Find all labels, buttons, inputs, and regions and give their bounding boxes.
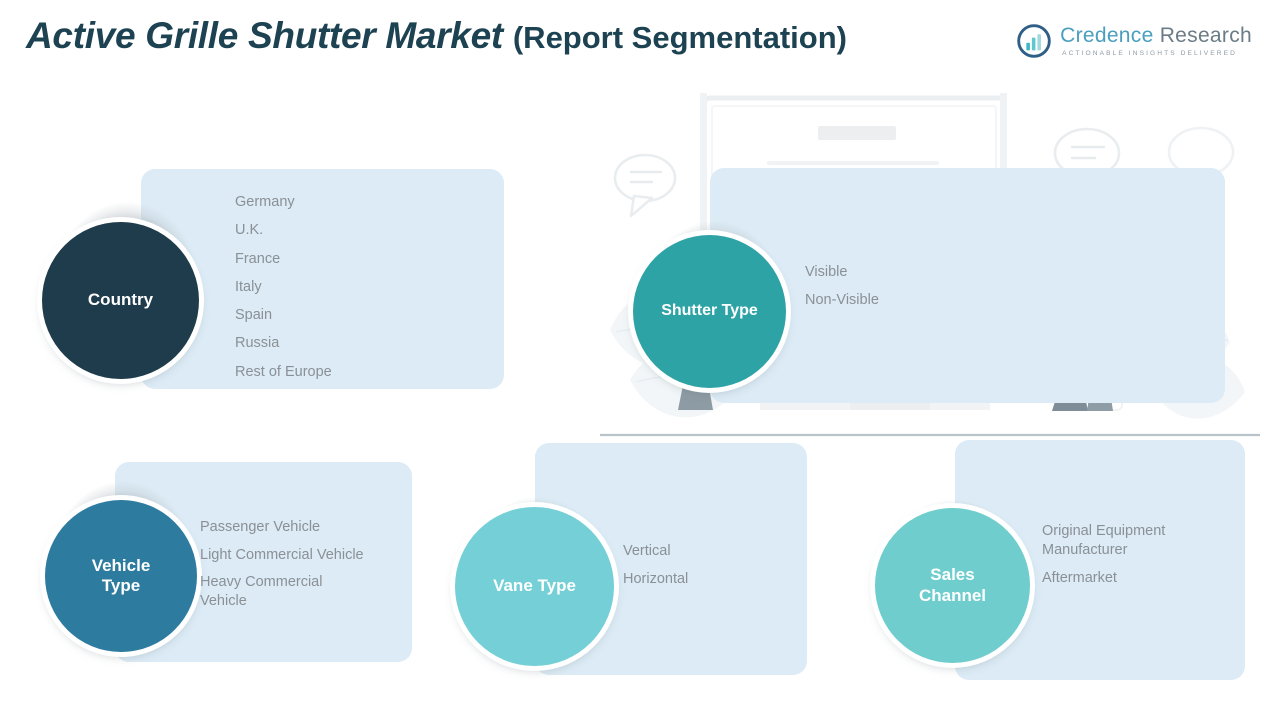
list-item: Horizontal bbox=[623, 565, 803, 593]
page-title-sub: (Report Segmentation) bbox=[513, 20, 847, 55]
page-title: Active Grille Shutter Market (Report Seg… bbox=[26, 15, 847, 57]
list-item: France bbox=[235, 245, 495, 273]
segment-vane-type: Vane Type Vertical Horizontal bbox=[420, 440, 820, 680]
segment-label-circle-country[interactable]: Country bbox=[42, 222, 199, 379]
segment-item-list-vane-type: Vertical Horizontal bbox=[623, 537, 803, 594]
list-item: Passenger Vehicle bbox=[200, 518, 425, 537]
segment-label-circle-sales-channel[interactable]: Sales Channel bbox=[875, 508, 1030, 663]
segment-item-list-sales-channel: Original Equipment Manufacturer Aftermar… bbox=[1042, 522, 1247, 597]
segment-sales-channel: Sales Channel Original Equipment Manufac… bbox=[830, 430, 1255, 680]
list-item: Spain bbox=[235, 301, 495, 329]
list-item: Italy bbox=[235, 273, 495, 301]
logo-text: Credence Research Actionable Insights De… bbox=[1060, 25, 1252, 56]
brand-logo[interactable]: Credence Research Actionable Insights De… bbox=[1017, 24, 1252, 58]
segment-item-list-country: Germany U.K. France Italy Spain Russia R… bbox=[235, 188, 495, 386]
logo-tagline: Actionable Insights Delivered bbox=[1062, 50, 1252, 57]
header: Active Grille Shutter Market (Report Seg… bbox=[0, 0, 1280, 90]
list-item: Light Commercial Vehicle bbox=[200, 546, 425, 565]
speech-bubble-right-lines bbox=[1072, 147, 1104, 158]
list-item: U.K. bbox=[235, 216, 495, 244]
list-item: Visible bbox=[805, 258, 1105, 286]
infographic-page: Active Grille Shutter Market (Report Seg… bbox=[0, 0, 1280, 720]
list-item: Non-Visible bbox=[805, 286, 1105, 314]
segment-label-circle-vehicle-type[interactable]: Vehicle Type bbox=[45, 500, 197, 652]
segment-vehicle-type: Vehicle Type Passenger Vehicle Light Com… bbox=[0, 440, 430, 680]
logo-word-secondary: Research bbox=[1154, 24, 1252, 47]
list-item: Original Equipment Manufacturer bbox=[1042, 522, 1247, 559]
list-item: Russia bbox=[235, 329, 495, 357]
bar-chart-circle-icon bbox=[1017, 24, 1051, 58]
logo-word-primary: Credence bbox=[1060, 24, 1153, 47]
list-item: Germany bbox=[235, 188, 495, 216]
whiteboard-title-bar bbox=[818, 126, 896, 140]
segment-label-circle-vane-type[interactable]: Vane Type bbox=[455, 507, 614, 666]
segment-item-list-shutter-type: Visible Non-Visible bbox=[805, 258, 1105, 315]
segment-shutter-type: Shutter Type Visible Non-Visible bbox=[600, 160, 1240, 410]
segment-label-circle-shutter-type[interactable]: Shutter Type bbox=[633, 235, 786, 388]
list-item: Rest of Europe bbox=[235, 358, 495, 386]
list-item: Heavy Commercial Vehicle bbox=[200, 573, 425, 610]
logo-wordmark: Credence Research bbox=[1060, 25, 1252, 47]
page-title-main: Active Grille Shutter Market bbox=[26, 15, 513, 56]
list-item: Vertical bbox=[623, 537, 803, 565]
segment-item-list-vehicle-type: Passenger Vehicle Light Commercial Vehic… bbox=[200, 518, 425, 619]
list-item: Aftermarket bbox=[1042, 569, 1247, 588]
segment-country: Country Germany U.K. France Italy Spain … bbox=[0, 160, 520, 400]
